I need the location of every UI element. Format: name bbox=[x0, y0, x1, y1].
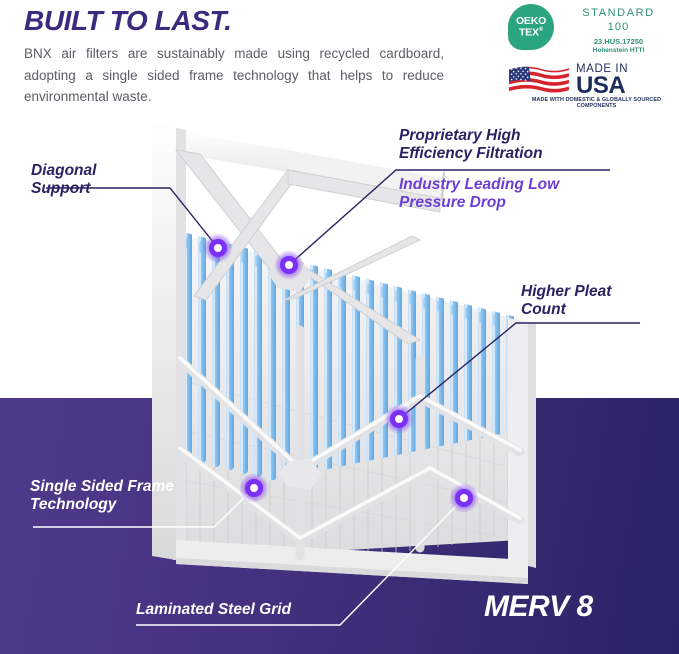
callout-proprietary-line2: Efficiency Filtration bbox=[399, 145, 543, 163]
merv-rating-label: MERV 8 bbox=[484, 592, 593, 622]
callout-diagonal-line2: Support bbox=[31, 180, 96, 198]
callout-label-single-sided-frame: Single Sided Frame Technology bbox=[30, 478, 174, 514]
callout-pleat-line1: Higher Pleat bbox=[521, 283, 611, 301]
hotspot-pleat[interactable] bbox=[384, 404, 414, 434]
callout-laminated-line1: Laminated Steel Grid bbox=[136, 601, 291, 619]
hotspot-single[interactable] bbox=[239, 473, 269, 503]
callout-label-laminated-steel-grid: Laminated Steel Grid bbox=[136, 601, 291, 619]
hotspot-proprietary[interactable] bbox=[274, 250, 304, 280]
callout-label-diagonal-support: Diagonal Support bbox=[31, 162, 96, 198]
callout-single-line2: Technology bbox=[30, 496, 174, 514]
callout-proprietary-line1: Proprietary High bbox=[399, 127, 543, 145]
callout-industry-line2: Pressure Drop bbox=[399, 194, 559, 212]
callout-industry-line1: Industry Leading Low bbox=[399, 176, 559, 194]
air-filter-illustration bbox=[0, 0, 679, 654]
infographic-stage: BUILT TO LAST. BNX air filters are susta… bbox=[0, 0, 679, 654]
hotspot-laminated[interactable] bbox=[449, 483, 479, 513]
callout-label-industry-leading: Industry Leading Low Pressure Drop bbox=[399, 176, 559, 212]
callout-single-line1: Single Sided Frame bbox=[30, 478, 174, 496]
callout-pleat-line2: Count bbox=[521, 301, 611, 319]
callout-label-higher-pleat-count: Higher Pleat Count bbox=[521, 283, 611, 319]
callout-label-proprietary-filtration: Proprietary High Efficiency Filtration bbox=[399, 127, 543, 163]
callout-diagonal-line1: Diagonal bbox=[31, 162, 96, 180]
hotspot-diagonal[interactable] bbox=[203, 233, 233, 263]
